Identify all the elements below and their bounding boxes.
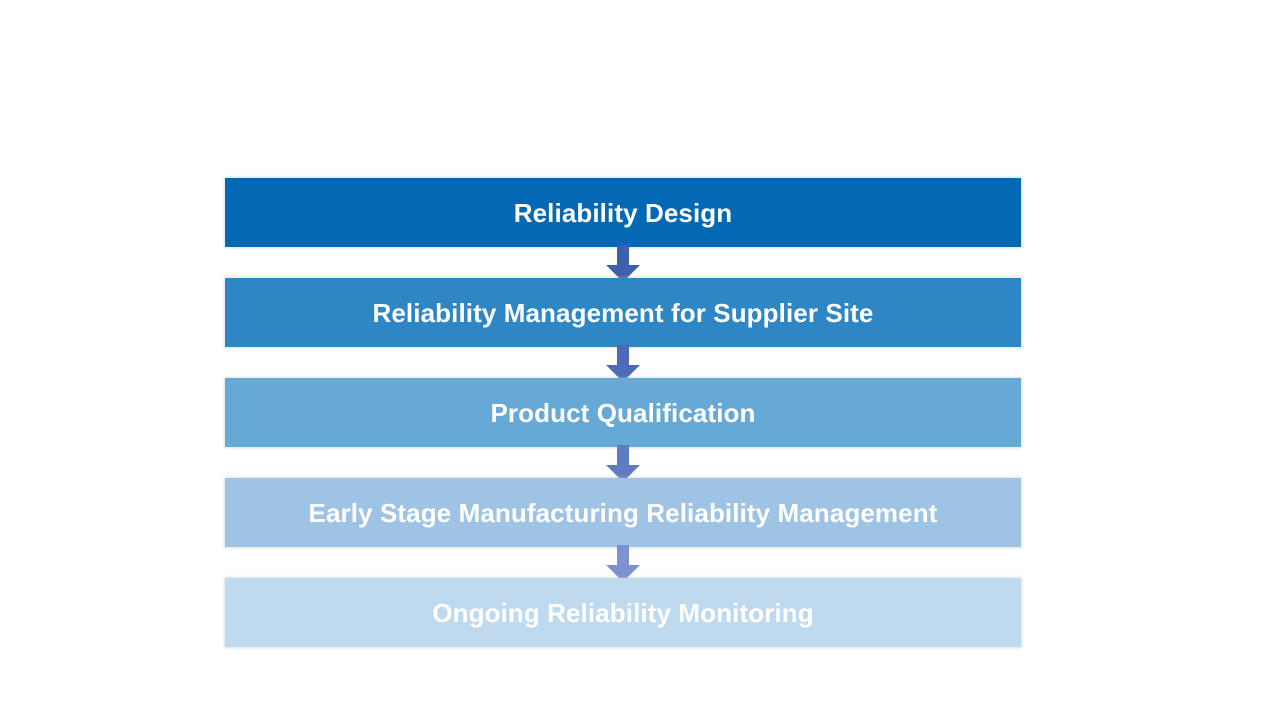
flow-connector-4: [225, 547, 1021, 578]
arrow-down-icon: [604, 445, 642, 482]
reliability-process-flow-diagram: Reliability Design Reliability Managemen…: [225, 178, 1021, 648]
flow-stage-label: Ongoing Reliability Monitoring: [432, 600, 813, 626]
arrow-down-icon: [604, 545, 642, 582]
arrow-down-icon: [604, 245, 642, 282]
flow-stage-reliability-management-for-supplier-site[interactable]: Reliability Management for Supplier Site: [225, 278, 1021, 347]
arrow-down-icon: [604, 345, 642, 382]
flow-stage-label: Product Qualification: [490, 400, 755, 426]
flow-stage-early-stage-manufacturing-reliability-management[interactable]: Early Stage Manufacturing Reliability Ma…: [225, 478, 1021, 547]
flow-stage-product-qualification[interactable]: Product Qualification: [225, 378, 1021, 447]
flow-stage-label: Early Stage Manufacturing Reliability Ma…: [309, 500, 938, 526]
flow-stage-reliability-design[interactable]: Reliability Design: [225, 178, 1021, 247]
flow-connector-1: [225, 247, 1021, 278]
flow-stage-ongoing-reliability-monitoring[interactable]: Ongoing Reliability Monitoring: [225, 578, 1021, 647]
flow-stage-label: Reliability Design: [514, 200, 733, 226]
flow-connector-3: [225, 447, 1021, 478]
flow-connector-2: [225, 347, 1021, 378]
flow-stage-label: Reliability Management for Supplier Site: [373, 300, 874, 326]
